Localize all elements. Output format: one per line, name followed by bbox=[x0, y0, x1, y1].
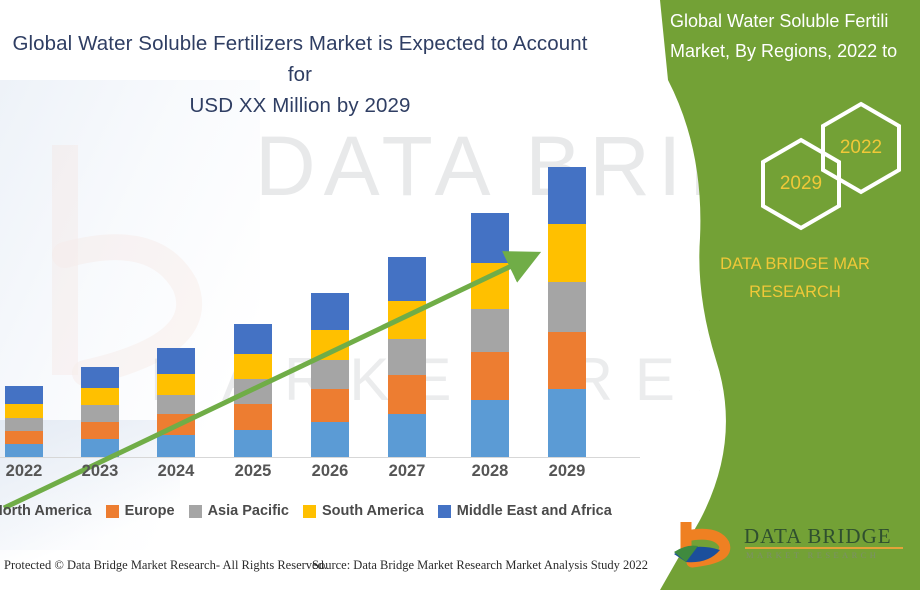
bar-segment bbox=[5, 386, 43, 404]
x-axis-label-2023: 2023 bbox=[60, 462, 140, 481]
headline-line-1: Global Water Soluble Fertilizers Market … bbox=[0, 28, 600, 90]
databridge-b-logo-icon bbox=[672, 518, 738, 570]
bar-segment bbox=[5, 404, 43, 418]
bar-segment bbox=[311, 389, 349, 422]
bar-2023 bbox=[81, 367, 119, 457]
bar-2024 bbox=[157, 348, 195, 457]
legend-item[interactable]: Asia Pacific bbox=[189, 503, 289, 519]
bar-segment bbox=[471, 352, 509, 400]
legend-item[interactable]: South America bbox=[303, 503, 424, 519]
legend-swatch-icon bbox=[438, 505, 451, 518]
bar-segment bbox=[388, 375, 426, 414]
bar-segment bbox=[471, 309, 509, 352]
legend-swatch-icon bbox=[303, 505, 316, 518]
bar-2022 bbox=[5, 386, 43, 457]
bar-segment bbox=[548, 224, 586, 281]
bar-segment bbox=[234, 404, 272, 430]
x-axis-label-2022: 2022 bbox=[0, 462, 64, 481]
x-axis-label-2025: 2025 bbox=[213, 462, 293, 481]
bar-segment bbox=[81, 388, 119, 405]
legend-item[interactable]: Europe bbox=[106, 503, 175, 519]
copyright-text: Protected © Data Bridge Market Research-… bbox=[4, 558, 327, 573]
bar-2026 bbox=[311, 293, 349, 457]
bar-segment bbox=[5, 431, 43, 444]
logo-text: DATA BRIDGE bbox=[744, 524, 892, 549]
bar-segment bbox=[234, 354, 272, 379]
x-axis-label-2024: 2024 bbox=[136, 462, 216, 481]
bar-segment bbox=[388, 257, 426, 301]
x-axis-label-2028: 2028 bbox=[450, 462, 530, 481]
x-axis-label-2026: 2026 bbox=[290, 462, 370, 481]
bar-segment bbox=[548, 167, 586, 224]
bar-segment bbox=[548, 282, 586, 333]
bar-segment bbox=[388, 414, 426, 457]
bar-segment bbox=[81, 405, 119, 422]
legend-item-label: North America bbox=[0, 503, 92, 519]
legend-item[interactable]: Middle East and Africa bbox=[438, 503, 612, 519]
green-panel-content: Global Water Soluble Fertili Market, By … bbox=[660, 0, 920, 590]
stacked-bar-chart bbox=[0, 110, 640, 460]
green-panel-title: Global Water Soluble Fertili Market, By … bbox=[670, 6, 920, 66]
page-title: Global Water Soluble Fertilizers Market … bbox=[0, 28, 600, 121]
logo-subtext: MARKET RESEARCH bbox=[746, 550, 879, 560]
bar-segment bbox=[311, 330, 349, 360]
green-title-line-1: Global Water Soluble Fertili bbox=[670, 6, 920, 36]
legend-swatch-icon bbox=[106, 505, 119, 518]
chart-panel: DATA BRIDGE MARKET RESEARCH Global Water… bbox=[0, 0, 700, 590]
legend-swatch-icon bbox=[189, 505, 202, 518]
legend-item-label: Europe bbox=[125, 503, 175, 519]
bar-2025 bbox=[234, 324, 272, 457]
bar-segment bbox=[81, 439, 119, 457]
bar-2028 bbox=[471, 213, 509, 457]
bar-segment bbox=[234, 324, 272, 354]
legend-item[interactable]: North America bbox=[0, 503, 92, 519]
bar-segment bbox=[548, 389, 586, 457]
bar-segment bbox=[471, 263, 509, 309]
bar-segment bbox=[157, 348, 195, 374]
footer: Protected © Data Bridge Market Research-… bbox=[0, 558, 660, 584]
legend-item-label: Middle East and Africa bbox=[457, 503, 612, 519]
bar-segment bbox=[471, 400, 509, 457]
databridge-logo: DATA BRIDGE MARKET RESEARCH bbox=[672, 518, 920, 576]
bar-segment bbox=[157, 414, 195, 435]
bar-segment bbox=[388, 301, 426, 339]
logo-divider bbox=[745, 547, 903, 549]
legend-item-label: Asia Pacific bbox=[208, 503, 289, 519]
legend-item-label: South America bbox=[322, 503, 424, 519]
bar-segment bbox=[157, 435, 195, 457]
bar-segment bbox=[388, 339, 426, 375]
hexagon-2029: 2029 bbox=[758, 136, 844, 232]
x-axis-label-2029: 2029 bbox=[527, 462, 607, 481]
bar-segment bbox=[81, 367, 119, 388]
bar-segment bbox=[311, 293, 349, 329]
hexagon-2029-label: 2029 bbox=[758, 136, 844, 232]
bar-2029 bbox=[548, 167, 586, 457]
bar-segment bbox=[471, 213, 509, 264]
brand-line-1: DATA BRIDGE MAR bbox=[660, 250, 920, 278]
brand-name: DATA BRIDGE MAR RESEARCH bbox=[660, 250, 920, 306]
bar-segment bbox=[5, 418, 43, 431]
source-text: Source: Data Bridge Market Research Mark… bbox=[312, 558, 648, 573]
hexagon-group: 2022 2029 bbox=[660, 98, 920, 228]
brand-line-2: RESEARCH bbox=[660, 278, 920, 306]
bar-2027 bbox=[388, 257, 426, 457]
bar-segment bbox=[81, 422, 119, 439]
bar-segment bbox=[157, 374, 195, 395]
bar-segment bbox=[234, 430, 272, 457]
x-axis-label-2027: 2027 bbox=[367, 462, 447, 481]
bar-segment bbox=[5, 444, 43, 457]
bar-segment bbox=[311, 422, 349, 457]
bar-segment bbox=[157, 395, 195, 415]
x-axis-line bbox=[0, 457, 640, 458]
bar-segment bbox=[548, 332, 586, 389]
infographic-root: DATA BRIDGE MARKET RESEARCH Global Water… bbox=[0, 0, 920, 590]
bar-segment bbox=[311, 360, 349, 390]
chart-legend: North AmericaEuropeAsia PacificSouth Ame… bbox=[0, 503, 612, 519]
bar-segment bbox=[234, 379, 272, 404]
x-axis-labels: 20222023202420252026202720282029 bbox=[0, 462, 640, 486]
green-title-line-2: Market, By Regions, 2022 to bbox=[670, 36, 920, 66]
